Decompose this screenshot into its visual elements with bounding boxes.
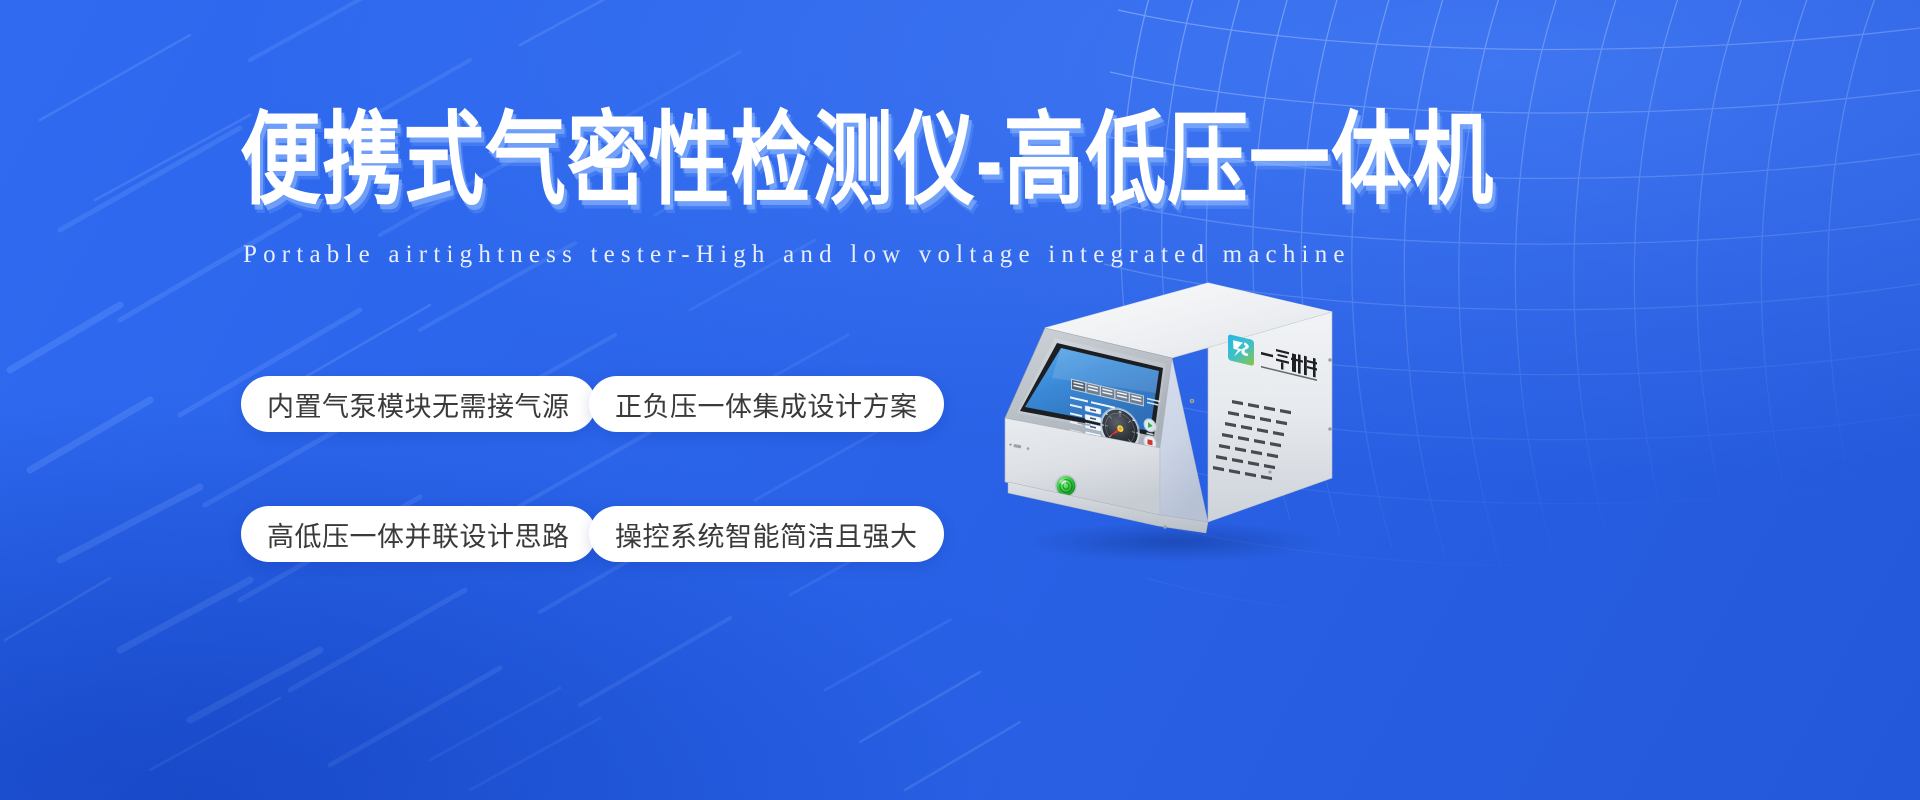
feature-pill-label: 操控系统智能简洁且强大 — [615, 515, 918, 554]
feature-pill-label: 正负压一体集成设计方案 — [615, 385, 918, 424]
feature-pill-4[interactable]: 操控系统智能简洁且强大 — [589, 506, 944, 562]
tester-device-illustration — [960, 250, 1360, 570]
page-title: 便携式气密性检测仪-高低压一体机 — [240, 108, 1494, 215]
feature-pill-3[interactable]: 高低压一体并联设计思路 — [241, 506, 596, 562]
feature-pill-label: 高低压一体并联设计思路 — [267, 515, 570, 554]
feature-pill-2[interactable]: 正负压一体集成设计方案 — [589, 376, 944, 432]
promo-banner: 便携式气密性检测仪-高低压一体机 Portable airtightness t… — [0, 0, 1920, 800]
product-image — [960, 250, 1360, 570]
feature-pill-label: 内置气泵模块无需接气源 — [267, 385, 570, 424]
feature-pill-1[interactable]: 内置气泵模块无需接气源 — [241, 376, 596, 432]
